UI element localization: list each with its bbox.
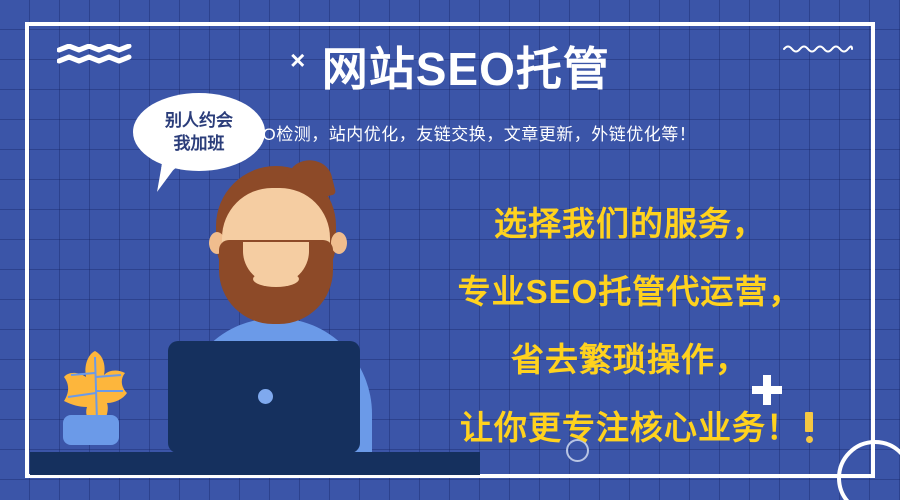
laptop-logo-dot [258,389,273,404]
person-illustration [0,0,900,500]
ear-right-shape [331,232,347,254]
plant-pot [63,415,119,445]
speech-bubble: 别人约会 我加班 [133,93,265,171]
speech-bubble-line-1: 别人约会 [165,109,233,132]
speech-bubble-line-2: 我加班 [174,132,225,155]
desk-icon [30,452,480,475]
seo-hosting-banner: × 网站SEO托管 含：SEO检测，站内优化，友链交换，文章更新，外链优化等！ … [0,0,900,500]
mouth-shape [253,271,299,287]
